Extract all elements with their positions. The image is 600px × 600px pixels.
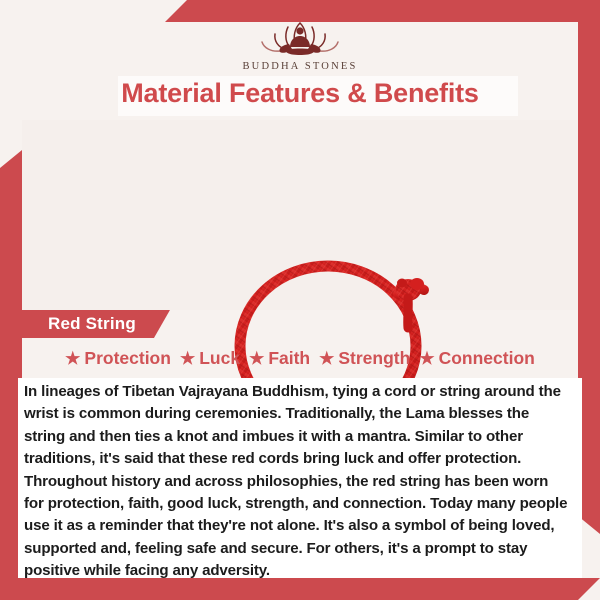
page-title: Material Features & Benefits: [0, 78, 600, 109]
benefit-luck: ★ Luck: [180, 348, 240, 369]
brand-name: BUDDHA STONES: [0, 61, 600, 72]
brand-logo: BUDDHA STONES: [0, 14, 600, 72]
benefit-strength: ★ Strength: [319, 348, 410, 369]
benefit-faith: ★ Faith: [249, 348, 310, 369]
star-icon: ★: [180, 350, 195, 367]
infographic-page: BUDDHA STONES Material Features & Benefi…: [0, 0, 600, 600]
star-icon: ★: [419, 350, 434, 367]
benefit-label: Faith: [268, 348, 310, 369]
star-icon: ★: [319, 350, 334, 367]
benefit-label: Protection: [84, 348, 171, 369]
product-label-ribbon: Red String: [18, 310, 170, 338]
benefit-protection: ★ Protection: [65, 348, 171, 369]
product-label-text: Red String: [48, 314, 136, 334]
description-text: In lineages of Tibetan Vajrayana Buddhis…: [24, 381, 568, 583]
star-icon: ★: [65, 350, 80, 367]
benefit-label: Strength: [338, 348, 410, 369]
description-panel: In lineages of Tibetan Vajrayana Buddhis…: [18, 378, 582, 578]
lotus-meditation-figure-icon: [244, 14, 356, 60]
star-icon: ★: [249, 350, 264, 367]
product-photo-area: [22, 120, 578, 310]
benefit-label: Luck: [199, 348, 240, 369]
benefit-connection: ★ Connection: [419, 348, 535, 369]
benefit-label: Connection: [439, 348, 535, 369]
benefits-row: ★ Protection ★ Luck ★ Faith ★ Strength ★…: [18, 348, 582, 369]
